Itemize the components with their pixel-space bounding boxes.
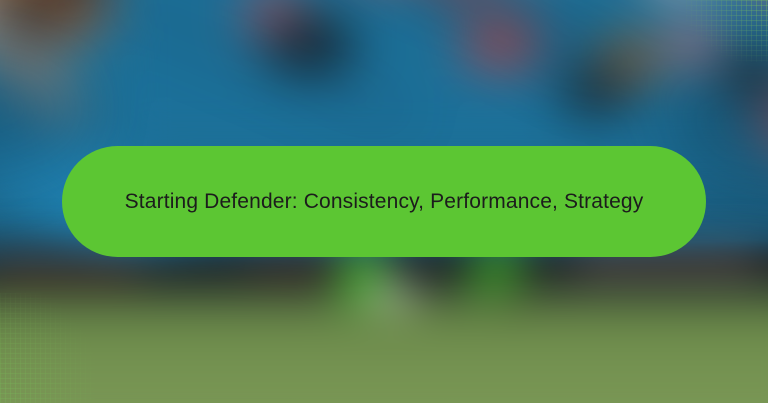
hero-title-banner: Starting Defender: Consistency, Performa… [62,146,706,257]
stand-railing-3 [98,0,414,124]
page-title: Starting Defender: Consistency, Performa… [125,184,644,220]
stand-shadow-left [0,47,89,171]
match-ball [367,284,419,301]
pitch-grass [0,296,768,403]
hero-screenshot: Starting Defender: Consistency, Performa… [0,0,768,403]
pitch-layer [0,242,768,403]
barrier-highlight-red [0,261,143,276]
player-boot [487,284,539,299]
